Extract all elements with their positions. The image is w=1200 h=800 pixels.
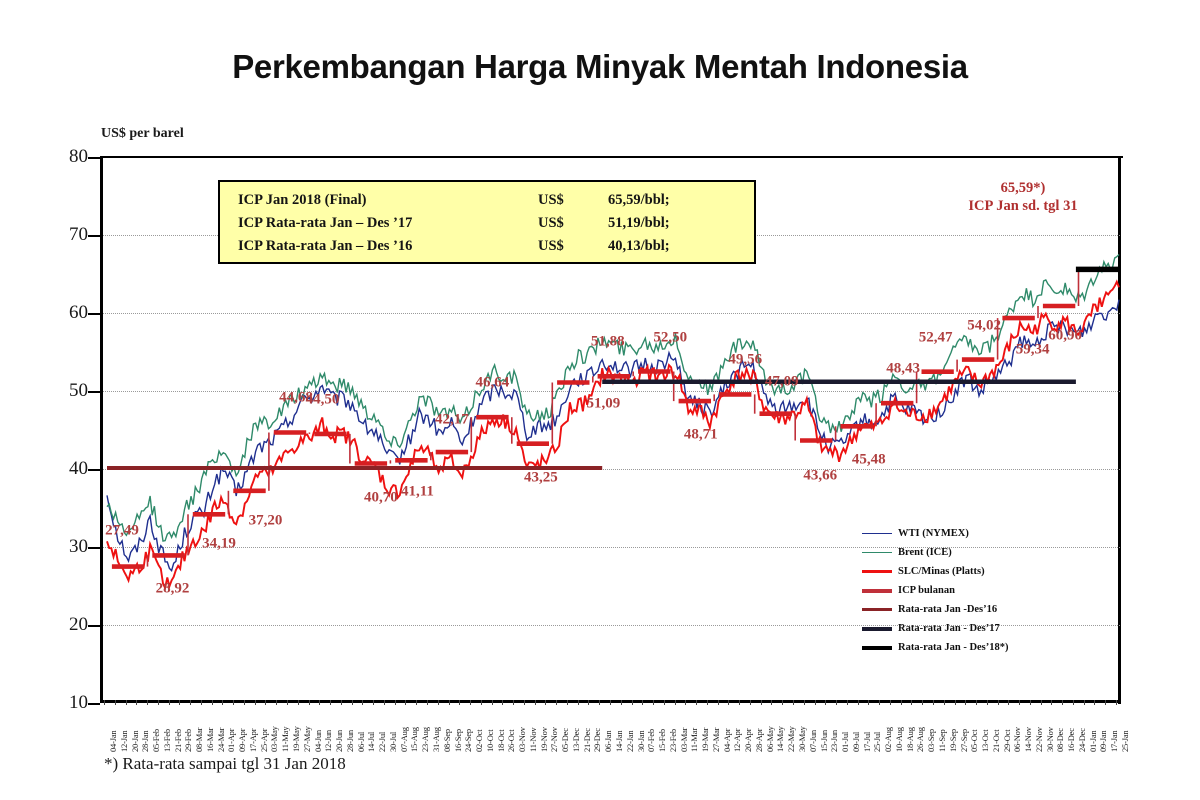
y-axis-tick-label: 20 — [28, 614, 88, 636]
x-axis-tick-mark — [276, 700, 277, 705]
x-axis-tick-mark — [373, 700, 374, 705]
x-axis-tick-mark — [761, 700, 762, 705]
x-axis-tick-mark — [126, 700, 127, 705]
x-axis-tick-mark — [535, 700, 536, 705]
x-axis-tick-mark — [395, 700, 396, 705]
x-axis-tick-label: 03-Sep — [926, 729, 936, 752]
info-row-value: 40,13/bbl; — [608, 235, 738, 258]
legend-label: WTI (NYMEX) — [898, 528, 969, 539]
x-axis-tick-mark — [352, 700, 353, 705]
y-axis-tick-label: 60 — [28, 302, 88, 324]
x-axis-tick-label: 14-May — [775, 726, 785, 752]
legend-item[interactable]: ICP bulanan — [862, 581, 1082, 600]
info-row-value: 51,19/bbl; — [608, 212, 738, 235]
x-axis-tick-mark — [1041, 700, 1042, 705]
legend-label: Rata-rata Jan -Des’16 — [898, 604, 997, 615]
x-axis-tick-mark — [233, 700, 234, 705]
x-axis-tick-label: 14-Jul — [366, 732, 376, 752]
x-axis-tick-mark — [911, 700, 912, 705]
icp-monthly-label: 52,50 — [653, 329, 687, 346]
icp-monthly-label: 48,43 — [886, 361, 920, 378]
x-axis-tick-mark — [513, 700, 514, 705]
legend-color-swatch — [862, 646, 892, 650]
x-axis-tick-label: 25-Jul — [872, 732, 882, 752]
icp-monthly-label: 34,19 — [202, 536, 236, 553]
x-axis-tick-label: 22-Nov — [1034, 727, 1044, 752]
x-axis-tick-mark — [728, 700, 729, 705]
x-axis-tick-label: 08-Dec — [1055, 728, 1065, 752]
info-box-row: ICP Rata-rata Jan – Des ’16US$40,13/bbl; — [220, 235, 754, 258]
icp-jan-caption: ICP Jan sd. tgl 31 — [968, 197, 1077, 215]
x-axis-tick-label: 30-Jan — [636, 731, 646, 752]
x-axis-tick-label: 01-Jul — [840, 732, 850, 752]
summary-info-box: ICP Jan 2018 (Final)US$65,59/bbl;ICP Rat… — [218, 180, 756, 264]
x-axis-tick-label: 15-Feb — [657, 729, 667, 752]
x-axis-tick-mark — [653, 700, 654, 705]
x-axis-tick-label: 25-Jan — [1120, 731, 1130, 752]
x-axis-tick-label: 18-Aug — [905, 727, 915, 752]
legend-item[interactable]: Rata-rata Jan - Des’18*) — [862, 638, 1082, 657]
y-axis-tick-label: 30 — [28, 536, 88, 558]
x-axis-tick-mark — [545, 700, 546, 705]
x-axis-tick-label: 05-Dec — [560, 728, 570, 752]
x-axis-tick-mark — [179, 700, 180, 705]
x-axis-tick-mark — [384, 700, 385, 705]
x-axis-tick-label: 22-Jul — [377, 732, 387, 752]
x-axis-tick-mark — [955, 700, 956, 705]
x-axis-tick-mark — [675, 700, 676, 705]
x-axis-tick-label: 13-Oct — [980, 730, 990, 752]
x-axis-tick-label: 12-Jan — [119, 731, 129, 752]
x-axis-tick-mark — [685, 700, 686, 705]
x-axis-tick-label: 13-Dec — [571, 728, 581, 752]
x-axis-tick-mark — [169, 700, 170, 705]
x-axis-tick-label: 30-May — [797, 726, 807, 752]
x-axis-tick-mark — [1073, 700, 1074, 705]
x-axis-tick-label: 17-Apr — [248, 729, 258, 752]
icp-monthly-label: 46,64 — [475, 375, 509, 392]
icp-monthly-label: 43,25 — [524, 469, 558, 486]
x-axis-tick-mark — [1116, 700, 1117, 705]
x-axis-tick-label: 11-Nov — [528, 728, 538, 752]
x-axis-tick-label: 04-Apr — [722, 729, 732, 752]
x-axis-tick-mark — [104, 700, 105, 705]
x-axis-tick-mark — [890, 700, 891, 705]
x-axis-tick-label: 03-Mar — [679, 728, 689, 752]
x-axis-tick-label: 19-Sep — [948, 729, 958, 752]
x-axis-tick-label: 21-Oct — [991, 730, 1001, 752]
x-axis-tick-mark — [524, 700, 525, 705]
x-axis-tick-label: 29-Dec — [592, 728, 602, 752]
y-axis-tick-label: 80 — [28, 146, 88, 168]
legend-color-swatch — [862, 570, 892, 573]
x-axis-tick-mark — [750, 700, 751, 705]
icp-monthly-label: 59,34 — [1016, 342, 1050, 359]
icp-monthly-label: 42,17 — [435, 412, 469, 429]
x-axis-tick-label: 19-Mar — [700, 728, 710, 752]
x-axis-tick-label: 23-Jun — [829, 730, 839, 752]
x-axis-tick-mark — [1030, 700, 1031, 705]
x-axis-tick-label: 16-Mar — [205, 728, 215, 752]
x-axis-tick-mark — [901, 700, 902, 705]
x-axis-tick-mark — [868, 700, 869, 705]
info-row-value: 65,59/bbl; — [608, 189, 738, 212]
x-axis-tick-mark — [1019, 700, 1020, 705]
x-axis-tick-label: 16-Dec — [1066, 728, 1076, 752]
x-axis-tick-mark — [158, 700, 159, 705]
x-axis-tick-label: 06-Jan — [603, 731, 613, 752]
x-axis-tick-mark — [212, 700, 213, 705]
x-axis-tick-label: 11-Sep — [937, 729, 947, 752]
x-axis-tick-label: 07-Feb — [646, 729, 656, 752]
x-axis-tick-mark — [287, 700, 288, 705]
icp-monthly-label: 51,88 — [591, 334, 625, 351]
x-axis-tick-mark — [965, 700, 966, 705]
legend-label: Brent (ICE) — [898, 547, 952, 558]
x-axis-tick-label: 26-Oct — [506, 730, 516, 752]
x-axis-tick-mark — [847, 700, 848, 705]
info-row-label: ICP Jan 2018 (Final) — [238, 189, 538, 212]
x-axis-tick-label: 22-Jan — [625, 731, 635, 752]
x-axis-tick-mark — [1105, 700, 1106, 705]
info-row-label: ICP Rata-rata Jan – Des ’16 — [238, 235, 538, 258]
x-axis-tick-mark — [136, 700, 137, 705]
y-axis-tick-label: 50 — [28, 380, 88, 402]
x-axis-tick-mark — [696, 700, 697, 705]
x-axis-tick-mark — [459, 700, 460, 705]
x-axis-tick-label: 20-Jan — [130, 731, 140, 752]
x-axis-tick-mark — [621, 700, 622, 705]
x-axis-tick-label: 18-Oct — [496, 730, 506, 752]
y-axis-tick-label: 70 — [28, 224, 88, 246]
x-axis-tick-mark — [362, 700, 363, 705]
x-axis-tick-mark — [804, 700, 805, 705]
x-axis-tick-mark — [987, 700, 988, 705]
x-axis-tick-mark — [147, 700, 148, 705]
y-axis-tick-mark — [88, 469, 100, 471]
legend-item[interactable]: Rata-rata Jan -Des’16 — [862, 600, 1082, 619]
x-axis-tick-label: 02-Aug — [883, 727, 893, 752]
x-axis-tick-mark — [632, 700, 633, 705]
x-axis-tick-label: 23-Aug — [420, 727, 430, 752]
icp-monthly-label: 48,71 — [684, 427, 718, 444]
x-axis-tick-mark — [427, 700, 428, 705]
y-axis-tick-mark — [88, 547, 100, 549]
y-axis-tick-mark — [88, 235, 100, 237]
icp-monthly-label: 43,66 — [803, 468, 837, 485]
x-axis-tick-mark — [265, 700, 266, 705]
x-axis-tick-label: 05-Oct — [969, 730, 979, 752]
x-axis-tick-mark — [492, 700, 493, 705]
icp-monthly-label: 27,49 — [105, 522, 139, 539]
x-axis-tick-label: 23-Feb — [668, 729, 678, 752]
info-row-currency: US$ — [538, 212, 608, 235]
x-axis-tick-mark — [836, 700, 837, 705]
info-row-label: ICP Rata-rata Jan – Des ’17 — [238, 212, 538, 235]
icp-monthly-label: 40,70 — [364, 489, 398, 506]
x-axis-tick-label: 21-Dec — [582, 728, 592, 752]
x-axis-tick-label: 28-Jun — [345, 730, 355, 752]
legend-label: SLC/Minas (Platts) — [898, 566, 985, 577]
x-axis-tick-label: 01-Jan — [1088, 731, 1098, 752]
x-axis-tick-mark — [244, 700, 245, 705]
x-axis-tick-mark — [1062, 700, 1063, 705]
x-axis-tick-label: 15-Jun — [819, 730, 829, 752]
info-row-currency: US$ — [538, 189, 608, 212]
icp-monthly-label: 44,50 — [306, 391, 340, 408]
x-axis-tick-mark — [502, 700, 503, 705]
x-axis-tick-label: 06-Nov — [1012, 727, 1022, 752]
x-axis-tick-mark — [190, 700, 191, 705]
x-axis-tick-label: 28-Jan — [140, 731, 150, 752]
x-axis-labels: 04-Jan12-Jan20-Jan28-Jan05-Feb13-Feb21-F… — [100, 706, 1120, 754]
icp-monthly-label: 60,90 — [1048, 327, 1082, 344]
x-axis-tick-label: 22-May — [786, 726, 796, 752]
x-axis-tick-mark — [879, 700, 880, 705]
x-axis-tick-mark — [578, 700, 579, 705]
x-axis-tick-label: 19-Nov — [539, 727, 549, 752]
x-axis-tick-mark — [610, 700, 611, 705]
chart-legend: WTI (NYMEX)Brent (ICE)SLC/Minas (Platts)… — [862, 524, 1082, 657]
x-axis-tick-mark — [642, 700, 643, 705]
x-axis-tick-mark — [588, 700, 589, 705]
icp-monthly-label: 49,56 — [728, 352, 762, 369]
x-axis-tick-mark — [771, 700, 772, 705]
x-axis-tick-mark — [858, 700, 859, 705]
x-axis-tick-mark — [825, 700, 826, 705]
x-axis-tick-label: 26-Aug — [915, 727, 925, 752]
x-axis-tick-mark — [1051, 700, 1052, 705]
x-axis-tick-mark — [470, 700, 471, 705]
page-title: Perkembangan Harga Minyak Mentah Indones… — [0, 48, 1200, 86]
x-axis-tick-mark — [298, 700, 299, 705]
legend-color-swatch — [862, 552, 892, 553]
x-axis-tick-mark — [449, 700, 450, 705]
x-axis-tick-label: 03-Nov — [517, 727, 527, 752]
x-axis-tick-label: 13-Feb — [162, 729, 172, 752]
icp-monthly-label: 51,09 — [586, 396, 620, 413]
x-axis-tick-mark — [115, 700, 116, 705]
legend-label: Rata-rata Jan - Des’18*) — [898, 642, 1009, 653]
legend-label: ICP bulanan — [898, 585, 955, 596]
x-axis-tick-label: 15-Aug — [409, 727, 419, 752]
info-row-currency: US$ — [538, 235, 608, 258]
x-axis-tick-label: 14-Jan — [614, 731, 624, 752]
x-axis-tick-label: 04-Jun — [313, 730, 323, 752]
x-axis-tick-mark — [793, 700, 794, 705]
x-axis-tick-label: 27-Sep — [959, 729, 969, 752]
x-axis-tick-mark — [438, 700, 439, 705]
x-axis-tick-mark — [707, 700, 708, 705]
x-axis-tick-label: 17-Jul — [862, 732, 872, 752]
x-axis-tick-mark — [782, 700, 783, 705]
x-axis-tick-label: 08-Sep — [442, 729, 452, 752]
x-axis-tick-mark — [481, 700, 482, 705]
y-axis-tick-label: 10 — [28, 692, 88, 714]
x-axis-tick-mark — [341, 700, 342, 705]
x-axis-tick-mark — [718, 700, 719, 705]
x-axis-tick-label: 08-Mar — [194, 728, 204, 752]
icp-monthly-label: 45,48 — [852, 452, 886, 469]
info-box-row: ICP Jan 2018 (Final)US$65,59/bbl; — [220, 189, 754, 212]
legend-color-swatch — [862, 589, 892, 593]
x-axis-tick-mark — [739, 700, 740, 705]
x-axis-tick-label: 04-Jan — [108, 731, 118, 752]
x-axis-tick-mark — [201, 700, 202, 705]
legend-item[interactable]: SLC/Minas (Platts) — [862, 562, 1082, 581]
x-axis-tick-mark — [222, 700, 223, 705]
x-axis-tick-mark — [815, 700, 816, 705]
x-axis-tick-label: 27-May — [302, 726, 312, 752]
x-axis-tick-label: 02-Oct — [474, 730, 484, 752]
x-axis-tick-label: 06-Jul — [356, 732, 366, 752]
x-axis-tick-label: 06-May — [765, 726, 775, 752]
x-axis-tick-mark — [330, 700, 331, 705]
x-axis-tick-mark — [933, 700, 934, 705]
legend-item[interactable]: WTI (NYMEX) — [862, 524, 1082, 543]
x-axis-tick-mark — [664, 700, 665, 705]
x-axis-tick-label: 12-Apr — [732, 729, 742, 752]
legend-color-swatch — [862, 533, 892, 534]
x-axis-tick-mark — [556, 700, 557, 705]
x-axis-tick-label: 07-Aug — [399, 727, 409, 752]
footnote: *) Rata-rata sampai tgl 31 Jan 2018 — [104, 754, 346, 774]
y-axis-tick-mark — [88, 313, 100, 315]
x-axis-tick-label: 28-Apr — [754, 729, 764, 752]
x-axis-tick-label: 19-May — [291, 726, 301, 752]
x-axis-tick-label: 29-Oct — [1002, 730, 1012, 752]
x-axis-tick-mark — [922, 700, 923, 705]
y-axis-tick-mark — [88, 625, 100, 627]
legend-item[interactable]: Brent (ICE) — [862, 543, 1082, 562]
x-axis-tick-label: 30-Jul — [388, 732, 398, 752]
x-axis-tick-mark — [599, 700, 600, 705]
x-axis-tick-label: 11-May — [280, 727, 290, 752]
x-axis-tick-label: 14-Nov — [1023, 727, 1033, 752]
x-axis-tick-label: 29-Feb — [183, 729, 193, 752]
x-axis-tick-mark — [405, 700, 406, 705]
x-axis-tick-label: 20-Apr — [743, 729, 753, 752]
x-axis-tick-mark — [976, 700, 977, 705]
legend-item[interactable]: Rata-rata Jan - Des’17 — [862, 619, 1082, 638]
x-axis-tick-label: 03-May — [269, 726, 279, 752]
info-box-row: ICP Rata-rata Jan – Des ’17US$51,19/bbl; — [220, 212, 754, 235]
x-axis-tick-mark — [1094, 700, 1095, 705]
x-axis-tick-mark — [567, 700, 568, 705]
y-axis-tick-mark — [88, 391, 100, 393]
x-axis-tick-label: 17-Jan — [1109, 731, 1119, 752]
x-axis-tick-label: 10-Aug — [894, 727, 904, 752]
x-axis-tick-label: 05-Feb — [151, 729, 161, 752]
x-axis-tick-mark — [416, 700, 417, 705]
x-axis-tick-label: 12-Jun — [323, 730, 333, 752]
x-axis-tick-label: 24-Sep — [463, 729, 473, 752]
x-axis-tick-label: 20-Jun — [334, 730, 344, 752]
x-axis-tick-label: 25-Apr — [259, 729, 269, 752]
y-axis-tick-mark — [88, 703, 100, 705]
x-axis-tick-label: 24-Mar — [216, 728, 226, 752]
x-axis-tick-label: 27-Nov — [549, 727, 559, 752]
x-axis-tick-label: 31-Aug — [431, 727, 441, 752]
x-axis-tick-label: 30-Nov — [1045, 727, 1055, 752]
x-axis-tick-mark — [944, 700, 945, 705]
legend-color-swatch — [862, 608, 892, 611]
legend-label: Rata-rata Jan - Des’17 — [898, 623, 1000, 634]
icp-monthly-label: 52,47 — [919, 329, 953, 346]
x-axis-tick-label: 09-Apr — [237, 729, 247, 752]
x-axis-tick-label: 16-Sep — [453, 729, 463, 752]
icp-monthly-label: 37,20 — [249, 512, 283, 529]
x-axis-tick-mark — [255, 700, 256, 705]
x-axis-tick-mark — [998, 700, 999, 705]
x-axis-tick-label: 21-Feb — [173, 729, 183, 752]
x-axis-tick-label: 09-Jan — [1098, 731, 1108, 752]
y-axis-unit-label: US$ per barel — [101, 126, 184, 142]
x-axis-tick-label: 10-Oct — [485, 730, 495, 752]
x-axis-tick-label: 27-Mar — [711, 728, 721, 752]
x-axis-tick-mark — [1084, 700, 1085, 705]
icp-monthly-label: 28,92 — [156, 581, 190, 598]
x-axis-tick-label: 01-Apr — [226, 729, 236, 752]
x-axis-tick-label: 09-Jul — [851, 732, 861, 752]
x-axis-tick-mark — [319, 700, 320, 705]
legend-color-swatch — [862, 627, 892, 631]
icp-jan-value: 65,59*) — [968, 179, 1077, 197]
x-axis-tick-label: 24-Dec — [1077, 728, 1087, 752]
icp-monthly-label: 41,11 — [401, 484, 434, 501]
icp-jan-annotation: 65,59*) ICP Jan sd. tgl 31 — [968, 179, 1077, 215]
y-axis-tick-mark — [88, 157, 100, 159]
x-axis-tick-label: 07-Jun — [808, 730, 818, 752]
x-axis-tick-mark — [309, 700, 310, 705]
icp-monthly-label: 54,02 — [967, 317, 1001, 334]
icp-monthly-label: 47,09 — [765, 373, 799, 390]
x-axis-tick-label: 11-Mar — [689, 728, 699, 752]
x-axis-tick-mark — [1008, 700, 1009, 705]
y-axis-tick-label: 40 — [28, 458, 88, 480]
